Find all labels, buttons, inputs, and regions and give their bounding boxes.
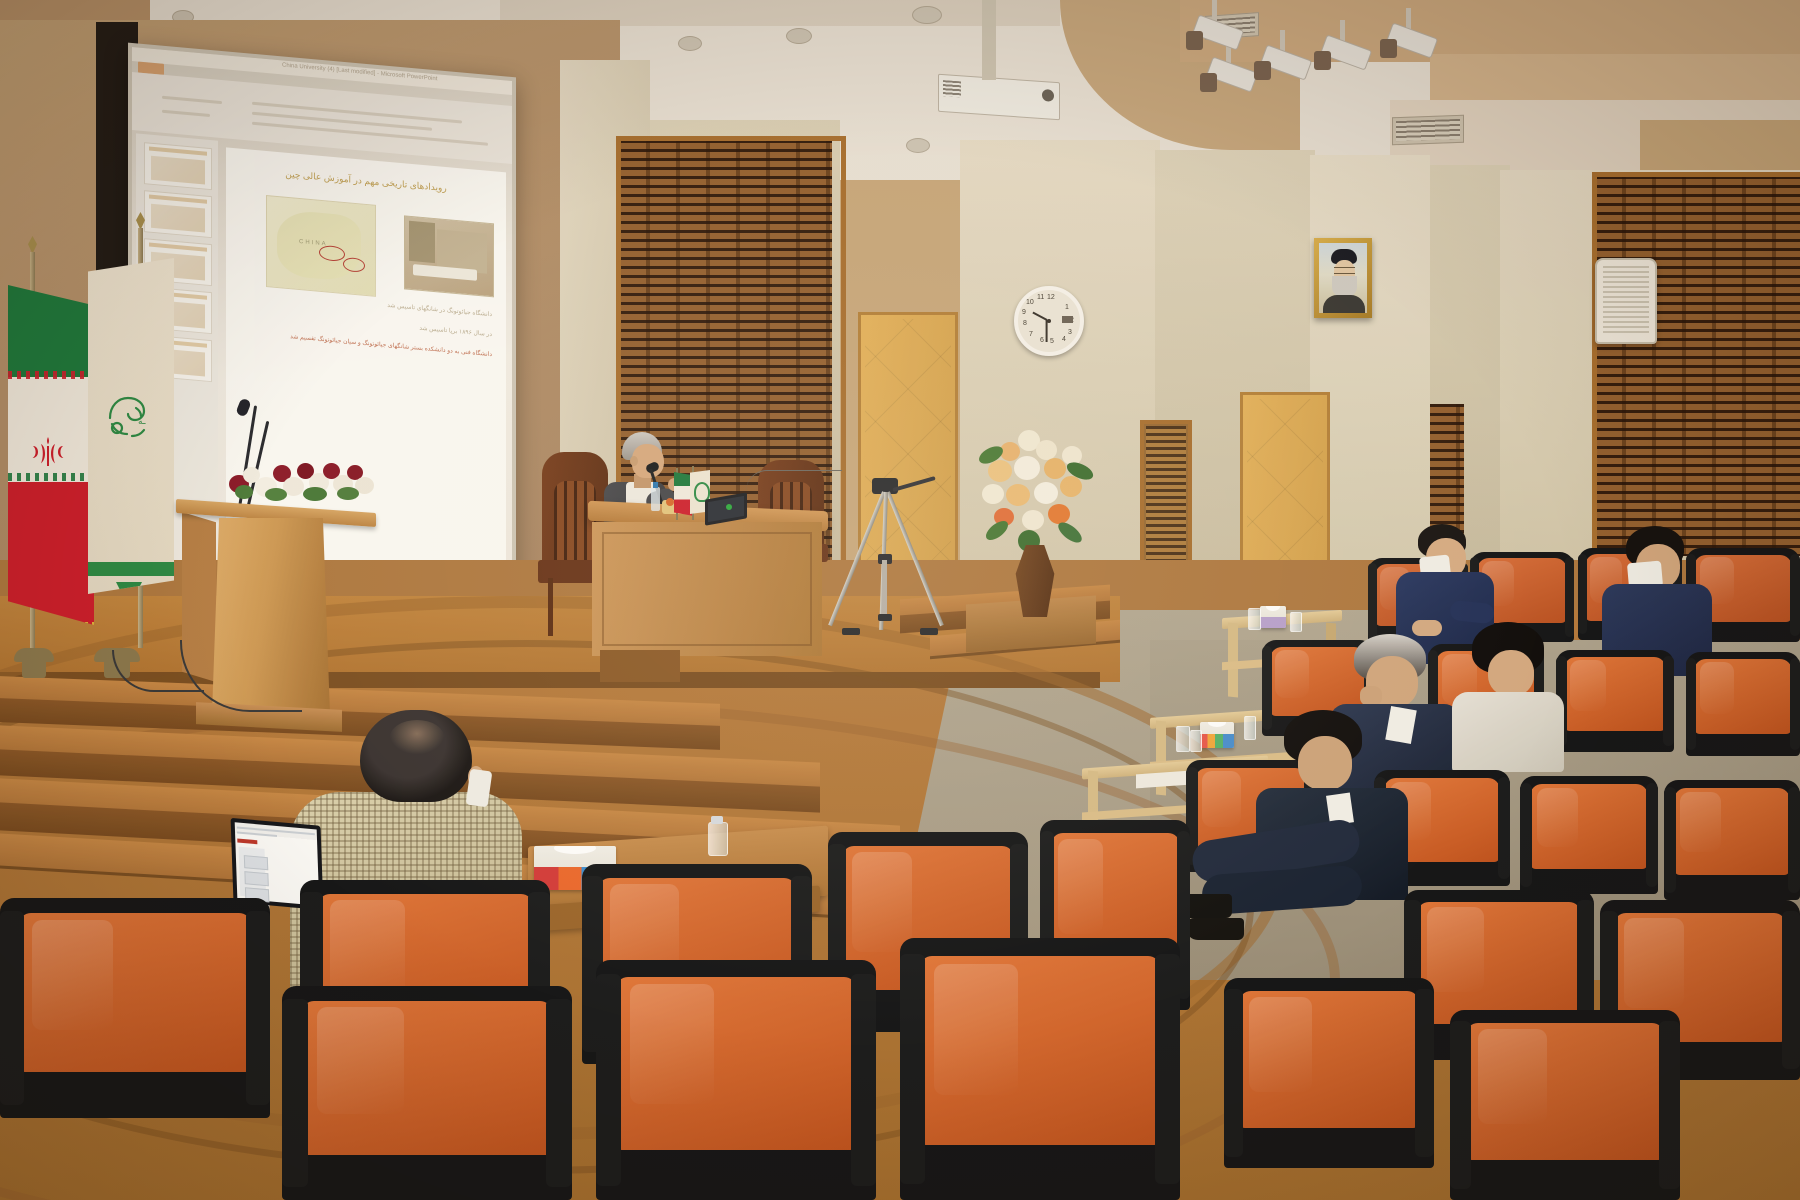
presenter-desk — [592, 522, 822, 656]
hand-sanitizer[interactable] — [1290, 612, 1302, 632]
slide-title: رویدادهای تاریخی مهم در آموزش عالی چین — [236, 164, 496, 198]
tissue-box[interactable] — [1200, 722, 1234, 748]
slat-panel-frame — [1592, 172, 1800, 570]
ceiling-soffit-right-2 — [1430, 54, 1800, 104]
tripod-pan-handle[interactable] — [892, 476, 935, 492]
slide-bullet-1: دانشگاه جیائوتونگ در شانگهای تاسیس شد — [387, 302, 492, 318]
audience-seat[interactable] — [1686, 652, 1800, 756]
water-glass[interactable] — [1248, 608, 1261, 630]
audience-seat[interactable] — [282, 986, 572, 1200]
lecture-hall-photo: 12 1 2 3 4 5 6 7 8 9 10 11 China Univers… — [0, 0, 1800, 1200]
water-glass[interactable] — [1244, 716, 1256, 740]
audience-seat[interactable] — [1224, 978, 1434, 1168]
audience-seat[interactable] — [900, 938, 1180, 1200]
audience-seat[interactable] — [1664, 780, 1800, 900]
snack-item — [666, 498, 674, 506]
wood-slat-wall-panel — [1430, 404, 1464, 544]
bottle-cap — [711, 816, 723, 824]
ceiling-fixture — [786, 28, 812, 44]
ceiling-fixture — [678, 36, 702, 51]
slide-bullet-3: دانشگاه فنی به دو دانشکده بستر شانگهای ج… — [290, 333, 492, 358]
floral-arrangement — [978, 430, 1094, 556]
podium-flower-arrangement — [225, 455, 377, 503]
audience-seat[interactable] — [1520, 776, 1658, 894]
framed-portrait — [1314, 238, 1372, 318]
desk-skirt — [600, 650, 680, 682]
wall-speaker — [1595, 258, 1657, 344]
wall-clock: 12 1 2 3 4 5 6 7 8 9 10 11 — [1014, 286, 1084, 356]
slide-thumbnail[interactable] — [144, 142, 212, 190]
flag-stand-base — [22, 658, 46, 678]
water-bottle[interactable] — [651, 487, 660, 511]
svg-text:ـه: ـه — [138, 417, 146, 427]
audience-person — [1452, 622, 1572, 772]
water-glass[interactable] — [1176, 726, 1190, 752]
audience-seat[interactable] — [596, 960, 876, 1200]
slide-bullet-2: در سال ۱۸۹۶ برپا تاسیس شد — [419, 325, 492, 338]
laptop-status-led — [726, 504, 732, 510]
person-chin — [1360, 686, 1382, 706]
air-vent — [1392, 115, 1464, 146]
audience-person-legs — [1178, 760, 1408, 950]
water-bottle[interactable] — [708, 822, 728, 856]
tissue-box[interactable] — [1260, 606, 1286, 628]
iran-national-flag — [8, 285, 94, 625]
university-flag: ـه — [88, 258, 174, 594]
water-glass[interactable] — [1190, 730, 1202, 752]
audience-seat[interactable] — [1556, 650, 1674, 752]
audience-seat[interactable] — [0, 898, 270, 1118]
ceiling-fixture — [906, 138, 930, 153]
ceiling-fixture — [912, 6, 942, 24]
camera-tripod[interactable] — [824, 478, 950, 632]
projector-mount — [982, 0, 996, 80]
china-map-image: CHINA — [266, 195, 376, 297]
campus-building-photo — [404, 215, 494, 297]
audience-seat[interactable] — [1450, 1010, 1680, 1200]
person-shoe — [1186, 918, 1244, 940]
slide-thumbnail[interactable] — [144, 190, 212, 238]
